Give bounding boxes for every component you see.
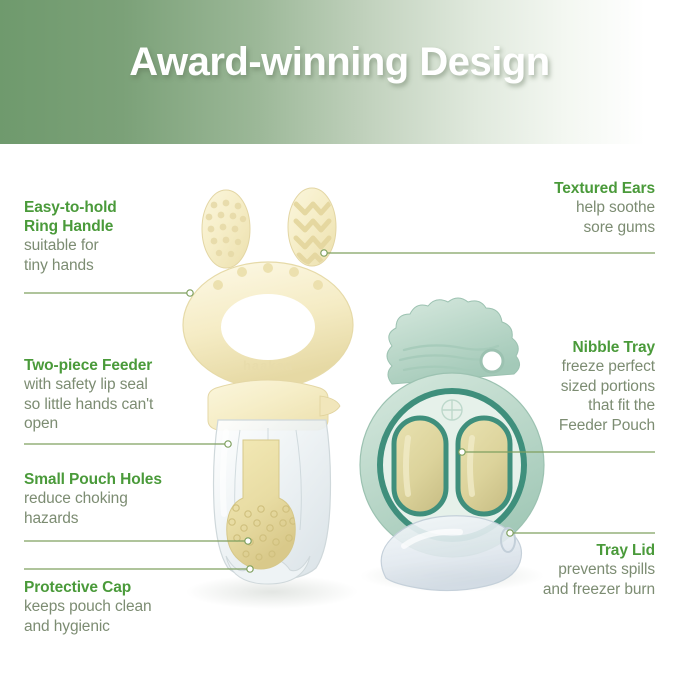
callout-title: Tray Lid xyxy=(445,541,655,560)
pod-highlight-right xyxy=(470,438,472,494)
callout-title-line: Textured Ears xyxy=(455,179,655,198)
callout-title-line: Small Pouch Holes xyxy=(24,470,234,489)
brand-mark: haakaa xyxy=(243,358,293,373)
callout-easy-to-hold-ring-handle: Easy-to-hold Ring Handle suitable for ti… xyxy=(24,198,224,275)
callout-desc-line: with safety lip seal xyxy=(24,375,234,395)
callout-description: prevents spills and freezer burn xyxy=(445,560,655,599)
callout-desc-line: open xyxy=(24,414,234,434)
callout-small-pouch-holes: Small Pouch Holes reduce choking hazards xyxy=(24,470,234,528)
callout-title: Easy-to-hold Ring Handle xyxy=(24,198,224,236)
pod-highlight-left xyxy=(406,438,408,494)
callout-title: Nibble Tray xyxy=(445,338,655,357)
textured-ear-right xyxy=(288,188,336,266)
callout-desc-line: and hygienic xyxy=(24,617,234,637)
callout-desc-line: sized portions xyxy=(445,377,655,397)
callout-title: Textured Ears xyxy=(455,179,655,198)
callout-desc-line: suitable for xyxy=(24,236,224,256)
callout-textured-ears: Textured Ears help soothe sore gums xyxy=(455,179,655,237)
callout-description: help soothe sore gums xyxy=(455,198,655,237)
callout-desc-line: Feeder Pouch xyxy=(445,416,655,436)
callout-description: freeze perfect sized portions that fit t… xyxy=(445,357,655,435)
callout-title-line: Ring Handle xyxy=(24,217,224,236)
callout-protective-cap: Protective Cap keeps pouch clean and hyg… xyxy=(24,578,234,636)
callout-desc-line: keeps pouch clean xyxy=(24,597,234,617)
callout-two-piece-feeder: Two-piece Feeder with safety lip seal so… xyxy=(24,356,234,434)
tray-pod-left xyxy=(394,418,446,514)
callout-desc-line: sore gums xyxy=(455,218,655,238)
callout-desc-line: reduce choking xyxy=(24,489,234,509)
infographic-root: Award-winning Design xyxy=(0,0,679,679)
ring-handle-hole xyxy=(221,294,315,360)
callout-desc-line: freeze perfect xyxy=(445,357,655,377)
callout-title-line: Two-piece Feeder xyxy=(24,356,234,375)
callout-title: Protective Cap xyxy=(24,578,234,597)
callout-title-line: Nibble Tray xyxy=(445,338,655,357)
feeder-spout-tab xyxy=(320,396,340,416)
callout-desc-line: so little hands can't xyxy=(24,395,234,415)
callout-nibble-tray: Nibble Tray freeze perfect sized portion… xyxy=(445,338,655,435)
callout-desc-line: help soothe xyxy=(455,198,655,218)
callout-title: Small Pouch Holes xyxy=(24,470,234,489)
callout-description: suitable for tiny hands xyxy=(24,236,224,275)
callout-tray-lid: Tray Lid prevents spills and freezer bur… xyxy=(445,541,655,599)
callout-description: keeps pouch clean and hygienic xyxy=(24,597,234,636)
callout-desc-line: and freezer burn xyxy=(445,580,655,600)
callout-description: with safety lip seal so little hands can… xyxy=(24,375,234,434)
callout-title: Two-piece Feeder xyxy=(24,356,234,375)
callout-desc-line: tiny hands xyxy=(24,256,224,276)
callout-desc-line: prevents spills xyxy=(445,560,655,580)
callout-title-line: Protective Cap xyxy=(24,578,234,597)
callout-title-line: Easy-to-hold xyxy=(24,198,224,217)
callout-desc-line: that fit the xyxy=(445,396,655,416)
callout-desc-line: hazards xyxy=(24,509,234,529)
callout-title-line: Tray Lid xyxy=(445,541,655,560)
callout-description: reduce choking hazards xyxy=(24,489,234,528)
